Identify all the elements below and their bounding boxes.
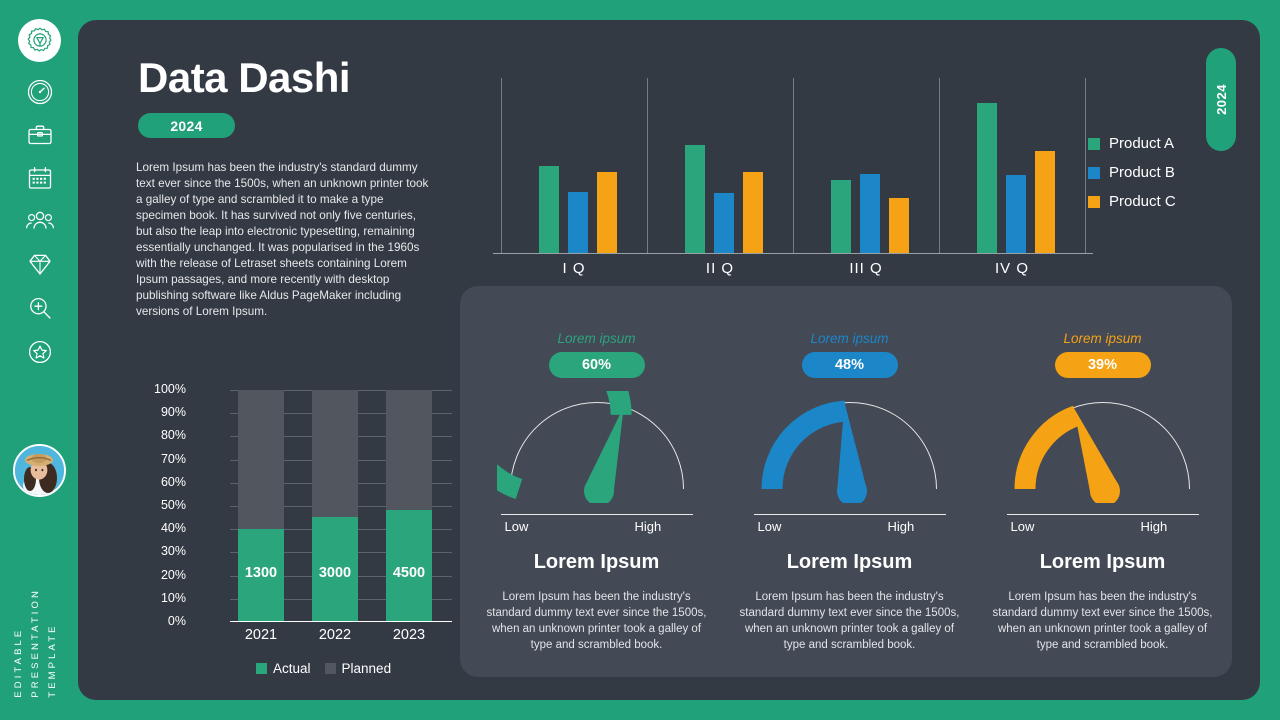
y-tick-label: 30% <box>136 544 186 558</box>
gauge-min-label: Low <box>758 519 782 534</box>
bar-value-label: 1300 <box>238 565 284 581</box>
y-tick-label: 100% <box>136 382 186 396</box>
search-plus-icon <box>26 294 54 322</box>
legend-item[interactable]: Product B <box>1088 164 1176 181</box>
percent-badge: 39% <box>1055 352 1151 378</box>
bar-value-label: 3000 <box>312 565 358 581</box>
gauge-max-label: High <box>1141 519 1168 534</box>
gauge-min-label: Low <box>505 519 529 534</box>
sidebar-item-portfolio[interactable] <box>22 117 58 153</box>
sidebar-item-favorites[interactable] <box>22 334 58 370</box>
column-chart-legend: ActualPlanned <box>256 661 391 676</box>
y-tick-label: 0% <box>136 614 186 628</box>
gauge-baseline <box>501 514 693 515</box>
bar-product-a-4 <box>977 103 997 253</box>
bar-chart-axis <box>493 253 1093 254</box>
gear-badge-icon <box>25 26 55 56</box>
bar-chart-legend: Product AProduct BProduct C <box>1088 135 1176 222</box>
card-subtitle: Lorem ipsum <box>974 331 1231 346</box>
gauge-chart <box>1003 391 1203 503</box>
intro-paragraph: Lorem Ipsum has been the industry's stan… <box>136 160 432 320</box>
legend-item[interactable]: Actual <box>256 661 311 676</box>
template-vertical-label: EDITABLE PRESENTATION TEMPLATE <box>10 588 61 698</box>
bar-product-c-4 <box>1035 151 1055 253</box>
legend-item[interactable]: Product A <box>1088 135 1176 152</box>
category-label: 2023 <box>374 627 444 643</box>
group-separator <box>939 78 940 253</box>
legend-swatch <box>325 663 336 674</box>
legend-label: Product B <box>1109 164 1175 181</box>
group-separator <box>793 78 794 253</box>
gauge-chart <box>497 391 697 503</box>
legend-label: Product A <box>1109 135 1174 152</box>
legend-label: Product C <box>1109 193 1176 210</box>
year-side-tab[interactable]: 2024 <box>1206 48 1236 151</box>
legend-swatch <box>256 663 267 674</box>
briefcase-icon <box>26 121 54 149</box>
card-subtitle: Lorem ipsum <box>721 331 978 346</box>
year-badge: 2024 <box>138 113 235 138</box>
gauge-min-label: Low <box>1011 519 1035 534</box>
calendar-icon <box>26 164 54 192</box>
bar-product-b-2 <box>714 193 734 253</box>
speedometer-icon <box>26 78 54 106</box>
card-body: Lorem Ipsum has been the industry's stan… <box>986 589 1219 653</box>
legend-label: Planned <box>342 661 392 676</box>
card-title: Lorem Ipsum <box>468 551 725 574</box>
sidebar-item-premium[interactable] <box>22 246 58 282</box>
category-label: IV Q <box>952 260 1072 277</box>
kpi-gauge-panel: Lorem ipsum60%LowHighLorem IpsumLorem Ip… <box>460 286 1232 677</box>
y-tick-label: 70% <box>136 452 186 466</box>
legend-swatch <box>1088 167 1100 179</box>
gauge-max-label: High <box>635 519 662 534</box>
legend-swatch <box>1088 196 1100 208</box>
bar-product-c-2 <box>743 172 763 253</box>
bar-product-c-3 <box>889 198 909 254</box>
category-label: III Q <box>806 260 926 277</box>
column-chart-plot-area: 130030004500 <box>230 390 452 622</box>
card-title: Lorem Ipsum <box>974 551 1231 574</box>
bar-product-a-1 <box>539 166 559 253</box>
y-tick-label: 90% <box>136 405 186 419</box>
y-tick-label: 60% <box>136 475 186 489</box>
legend-swatch <box>1088 138 1100 150</box>
percent-badge: 60% <box>549 352 645 378</box>
bar-product-b-1 <box>568 192 588 254</box>
bar-product-a-2 <box>685 145 705 253</box>
kpi-card-2: Lorem ipsum48%LowHighLorem IpsumLorem Ip… <box>721 286 978 677</box>
quarterly-products-bar-chart: I QII QIII QIV Q <box>493 58 1093 278</box>
y-tick-label: 80% <box>136 428 186 442</box>
percent-badge: 48% <box>802 352 898 378</box>
sidebar-item-search[interactable] <box>22 290 58 326</box>
logo-badge[interactable] <box>18 19 61 62</box>
card-subtitle: Lorem ipsum <box>468 331 725 346</box>
category-label: 2021 <box>226 627 296 643</box>
group-separator <box>647 78 648 253</box>
x-axis-line <box>230 621 452 623</box>
avatar-image <box>15 446 64 495</box>
y-tick-label: 40% <box>136 521 186 535</box>
bar-value-label: 4500 <box>386 565 432 581</box>
legend-item[interactable]: Product C <box>1088 193 1176 210</box>
legend-item[interactable]: Planned <box>325 661 392 676</box>
sidebar-item-team[interactable] <box>22 203 58 239</box>
year-side-tab-label: 2024 <box>1214 84 1229 115</box>
y-tick-label: 50% <box>136 498 186 512</box>
group-separator <box>501 78 502 253</box>
gauge-max-label: High <box>888 519 915 534</box>
bar-product-b-4 <box>1006 175 1026 253</box>
bar-product-a-3 <box>831 180 851 254</box>
card-body: Lorem Ipsum has been the industry's stan… <box>733 589 966 653</box>
page-title: Data Dashi <box>138 54 350 102</box>
gauge-chart <box>750 391 950 503</box>
bar-product-c-1 <box>597 172 617 253</box>
group-separator <box>1085 78 1086 253</box>
legend-label: Actual <box>273 661 311 676</box>
people-icon <box>25 207 55 235</box>
category-label: II Q <box>660 260 780 277</box>
category-label: 2022 <box>300 627 370 643</box>
gauge-baseline <box>754 514 946 515</box>
star-badge-icon <box>26 338 54 366</box>
kpi-card-3: Lorem ipsum39%LowHighLorem IpsumLorem Ip… <box>974 286 1231 677</box>
gauge-baseline <box>1007 514 1199 515</box>
y-tick-label: 20% <box>136 568 186 582</box>
card-body: Lorem Ipsum has been the industry's stan… <box>480 589 713 653</box>
avatar[interactable] <box>13 444 66 497</box>
y-tick-label: 10% <box>136 591 186 605</box>
sidebar: EDITABLE PRESENTATION TEMPLATE <box>0 0 80 720</box>
sidebar-item-dashboard[interactable] <box>22 74 58 110</box>
dashboard-canvas: Data Dashi 2024 Lorem Ipsum has been the… <box>78 20 1260 700</box>
actual-vs-planned-column-chart: 100%90%80%70%60%50%40%30%20%10%0% 130030… <box>128 365 468 665</box>
diamond-icon <box>26 250 54 278</box>
bar-product-b-3 <box>860 174 880 254</box>
sidebar-item-calendar[interactable] <box>22 160 58 196</box>
card-title: Lorem Ipsum <box>721 551 978 574</box>
category-label: I Q <box>514 260 634 277</box>
kpi-card-1: Lorem ipsum60%LowHighLorem IpsumLorem Ip… <box>468 286 725 677</box>
